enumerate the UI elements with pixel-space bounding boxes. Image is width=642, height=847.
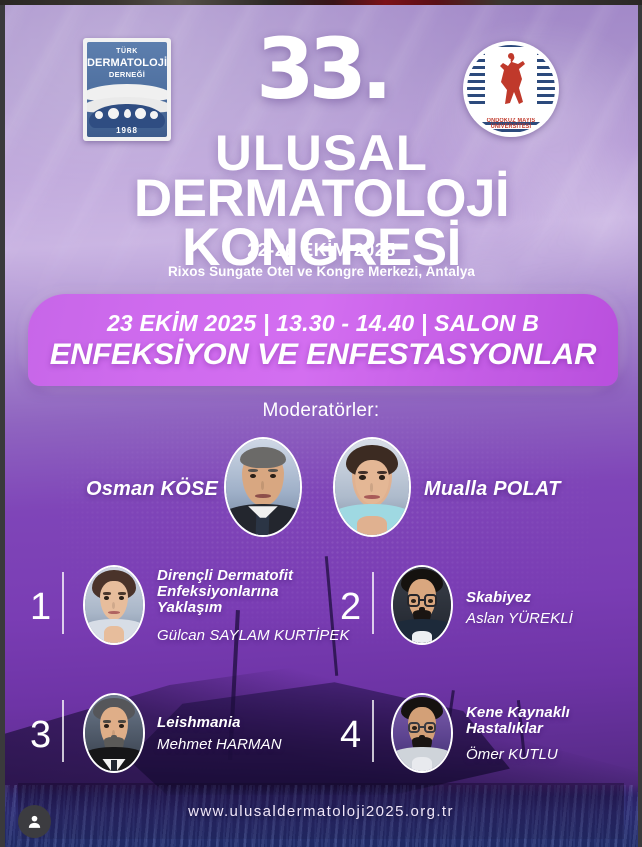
person-icon-button[interactable] xyxy=(18,805,51,838)
moderator-photo-2 xyxy=(333,437,411,537)
talk-speaker: Mehmet HARMAN xyxy=(157,736,282,753)
talk-divider xyxy=(62,572,64,634)
talk-title: Skabiyez xyxy=(466,590,636,606)
session-topic: ENFEKSİYON VE ENFESTASYONLAR xyxy=(28,338,618,372)
talk-title: Kene Kaynaklı Hastalıklar xyxy=(466,705,636,737)
congress-website-url[interactable]: www.ulusaldermatoloji2025.org.tr xyxy=(0,803,642,820)
talk-number: 1 xyxy=(30,588,51,626)
omu-logo-ring-text: ONDOKUZ MAYIS ÜNİVERSİTESİ xyxy=(467,118,555,130)
congress-dates: 22-26 EKİM 2025 xyxy=(5,240,638,261)
moderator-name-1: Osman KÖSE xyxy=(78,478,218,501)
talk-number: 4 xyxy=(340,716,361,754)
talk-speaker-photo xyxy=(391,565,453,645)
congress-venue: Rixos Sungate Otel ve Kongre Merkezi, An… xyxy=(5,264,638,279)
moderator-name-2: Mualla POLAT xyxy=(424,478,604,501)
talk-divider xyxy=(372,700,374,762)
session-banner: 23 EKİM 2025 | 13.30 - 14.40 | SALON B E… xyxy=(28,294,618,386)
talk-title: Dirençli Dermatofit Enfeksiyonlarına Yak… xyxy=(157,568,337,616)
talk-speaker-photo xyxy=(83,693,145,773)
talk-speaker: Aslan YÜREKLİ xyxy=(466,610,573,627)
moderator-photo-1 xyxy=(224,437,302,537)
talk-title: Leishmania xyxy=(157,715,337,731)
feed-gutter-left xyxy=(0,0,5,847)
talk-divider xyxy=(62,700,64,762)
talk-speaker-photo xyxy=(391,693,453,773)
talk-speaker: Gülcan SAYLAM KURTİPEK xyxy=(157,627,350,644)
edition-number: 33. xyxy=(5,27,638,111)
person-icon xyxy=(26,813,43,830)
talk-speaker-photo xyxy=(83,565,145,645)
congress-poster: TÜRK DERMATOLOJİ DERNEĞİ 1968 xyxy=(0,0,642,847)
previous-post-strip xyxy=(0,0,642,5)
feed-gutter-right xyxy=(638,0,642,847)
tdd-logo-cell xyxy=(150,111,158,119)
talk-number: 3 xyxy=(30,716,51,754)
talk-number: 2 xyxy=(340,588,361,626)
moderators-label: Moderatörler: xyxy=(0,400,642,422)
talk-speaker: Ömer KUTLU xyxy=(466,746,558,763)
session-meta: 23 EKİM 2025 | 13.30 - 14.40 | SALON B xyxy=(28,310,618,337)
talk-divider xyxy=(372,572,374,634)
tdd-logo-cell xyxy=(95,111,103,119)
